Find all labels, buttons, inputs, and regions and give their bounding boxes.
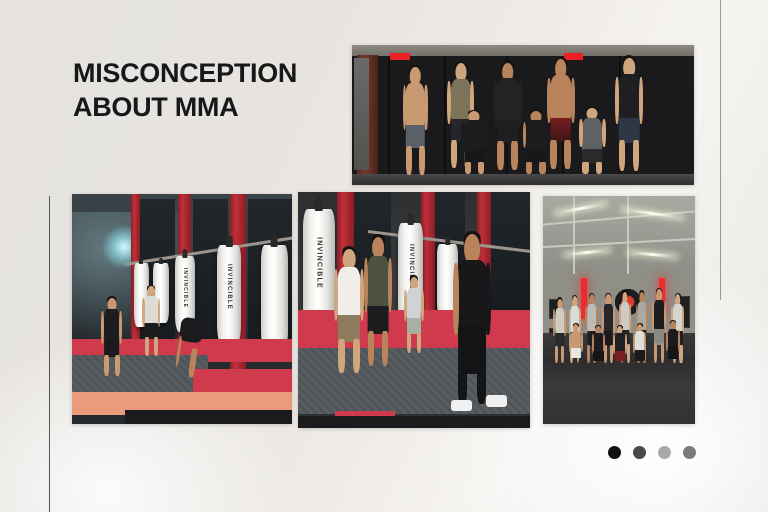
slide-canvas: MISCONCEPTION ABOUT MMA xyxy=(0,0,768,512)
title-line-1: MISCONCEPTION xyxy=(73,58,297,88)
pagination-dot-4[interactable] xyxy=(683,446,696,459)
heavy-bag: INVINCIBLE xyxy=(217,245,241,346)
gym-floor xyxy=(352,174,694,185)
figure-training xyxy=(98,298,124,376)
photo-class-group[interactable] xyxy=(543,196,695,424)
photo-heavy-bag-hall[interactable]: INVINCIBLE INVINCIBLE xyxy=(72,194,292,424)
figure-kneeling xyxy=(458,111,490,174)
figure-student xyxy=(361,237,396,364)
page-title: MISCONCEPTION ABOUT MMA xyxy=(73,57,343,125)
bag-brand-label: INVINCIBLE xyxy=(315,237,322,289)
coach-shoe xyxy=(486,395,507,407)
door-glass xyxy=(354,58,369,170)
figure-kneeling-front xyxy=(631,324,648,374)
right-vertical-rule xyxy=(720,0,721,300)
pad-seam xyxy=(388,56,390,174)
pagination-dot-2[interactable] xyxy=(633,446,646,459)
photo-class-group-content xyxy=(543,196,695,424)
photo-team-lineup-content xyxy=(352,45,694,185)
figure-coach xyxy=(449,234,495,404)
bag-brand-label: INVINCIBLE xyxy=(226,264,232,310)
photo-training-session-content: INVINCIBLE INVINCIBLE xyxy=(298,192,530,428)
title-line-2: ABOUT MMA xyxy=(73,92,238,122)
figure-standing xyxy=(400,67,431,173)
coach-shoe xyxy=(451,400,472,412)
pagination-dots[interactable] xyxy=(608,446,696,459)
mat-dark xyxy=(298,416,530,428)
figure-kneeling-front xyxy=(567,324,584,372)
photo-training-session[interactable]: INVINCIBLE INVINCIBLE xyxy=(298,192,530,428)
figure-standing xyxy=(612,58,646,170)
photo-team-lineup[interactable] xyxy=(352,45,694,185)
figure-training xyxy=(140,286,162,355)
ceiling-grid xyxy=(543,196,695,278)
figure-child xyxy=(402,277,425,353)
figure-kneeling-front xyxy=(665,321,682,371)
figure-kneeling xyxy=(576,108,608,174)
red-wall-tag xyxy=(390,53,411,60)
mat-dark xyxy=(125,410,292,424)
photo-heavy-bag-hall-content: INVINCIBLE INVINCIBLE xyxy=(72,194,292,424)
figure-kneeling-front xyxy=(590,326,607,374)
pagination-dot-1[interactable] xyxy=(608,446,621,459)
bag-brand-label: INVINCIBLE xyxy=(182,268,188,308)
left-vertical-rule xyxy=(49,196,50,512)
figure-kneeling-front xyxy=(611,326,628,374)
wall-bay xyxy=(491,192,530,324)
figure-kneeling xyxy=(520,111,552,174)
pagination-dot-3[interactable] xyxy=(658,446,671,459)
figure-group-member xyxy=(552,299,567,363)
